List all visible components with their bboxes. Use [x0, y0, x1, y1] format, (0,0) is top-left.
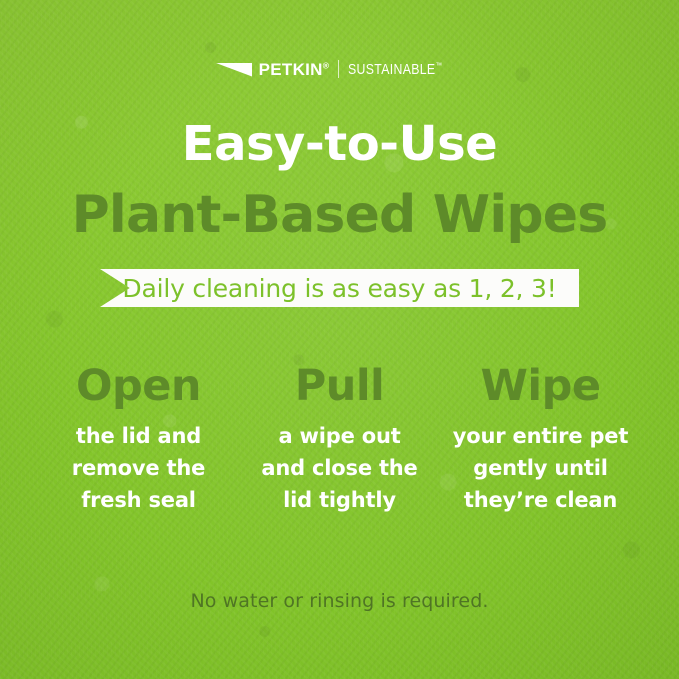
- step-body-line: fresh seal: [42, 485, 235, 517]
- footer-note: No water or rinsing is required.: [0, 592, 679, 611]
- trademark-mark-icon: ™: [436, 61, 443, 70]
- headline-line-2: Plant-Based Wipes: [0, 187, 679, 244]
- step-body-line: your entire pet: [444, 421, 637, 453]
- step-body: the lid and remove the fresh seal: [42, 421, 235, 517]
- registered-mark-icon: ®: [323, 60, 330, 70]
- petkin-wedge-icon: [216, 63, 252, 77]
- brand-divider: [338, 60, 339, 78]
- step-body-line: gently until: [444, 453, 637, 485]
- step-open: Open the lid and remove the fresh seal: [38, 364, 239, 517]
- step-title: Wipe: [444, 364, 637, 409]
- step-body: your entire pet gently until they’re cle…: [444, 421, 637, 517]
- step-body-line: they’re clean: [444, 485, 637, 517]
- brand-name: PETKIN®: [259, 61, 330, 78]
- steps-row: Open the lid and remove the fresh seal P…: [38, 364, 641, 517]
- ribbon-banner: Daily cleaning is as easy as 1, 2, 3!: [100, 269, 579, 307]
- ribbon-text: Daily cleaning is as easy as 1, 2, 3!: [122, 276, 556, 301]
- step-title: Pull: [243, 364, 436, 409]
- step-wipe: Wipe your entire pet gently until they’r…: [440, 364, 641, 517]
- promo-poster: PETKIN® SUSTAINABLE™ Easy-to-Use Plant-B…: [0, 0, 679, 679]
- poster-content: PETKIN® SUSTAINABLE™ Easy-to-Use Plant-B…: [0, 0, 679, 679]
- step-body-line: lid tightly: [243, 485, 436, 517]
- headline-line-1: Easy-to-Use: [0, 118, 679, 171]
- step-body-line: the lid and: [42, 421, 235, 453]
- brand-sub-name: SUSTAINABLE™: [348, 62, 442, 77]
- step-body-line: remove the: [42, 453, 235, 485]
- step-title: Open: [42, 364, 235, 409]
- step-body-line: a wipe out: [243, 421, 436, 453]
- step-body-line: and close the: [243, 453, 436, 485]
- step-body: a wipe out and close the lid tightly: [243, 421, 436, 517]
- brand-lockup: PETKIN® SUSTAINABLE™: [0, 58, 679, 80]
- step-pull: Pull a wipe out and close the lid tightl…: [239, 364, 440, 517]
